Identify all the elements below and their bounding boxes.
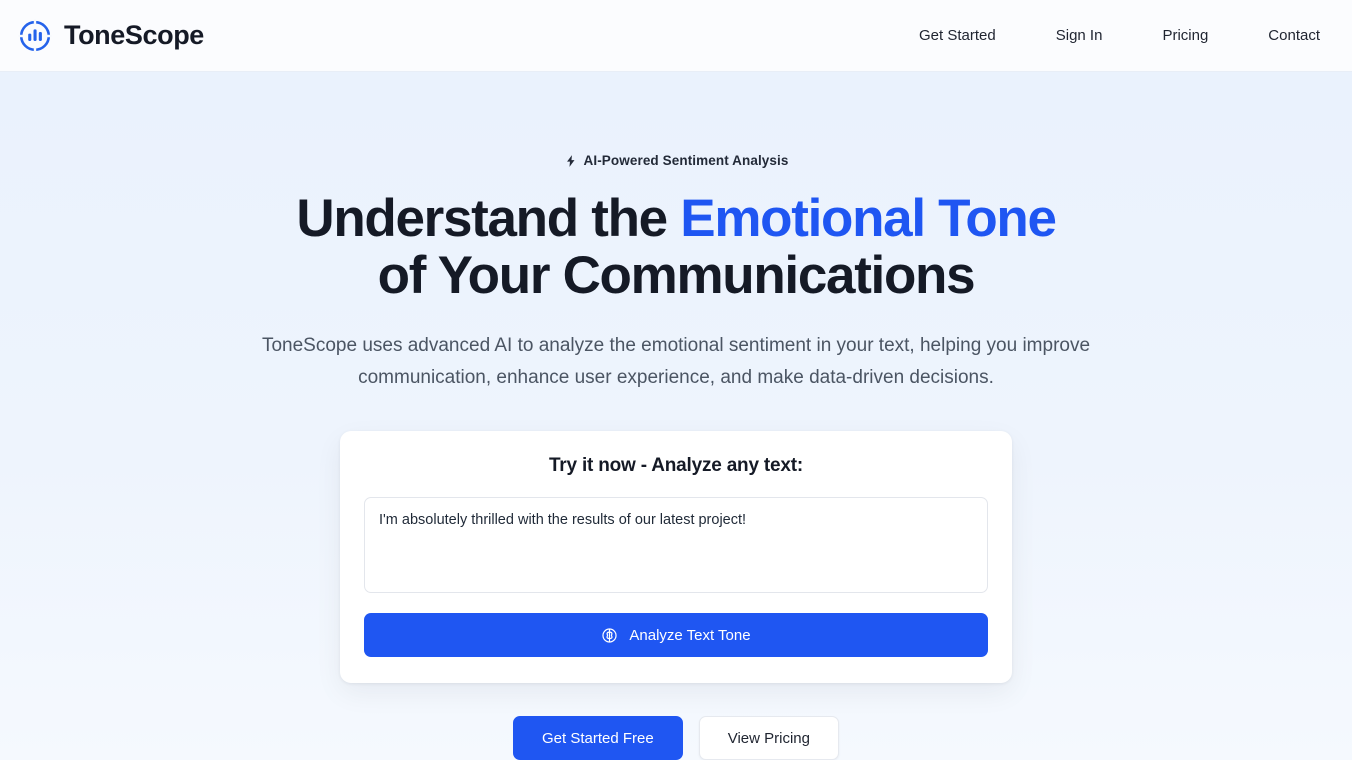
headline-accent: Emotional Tone <box>680 189 1055 248</box>
site-header: ToneScope Get Started Sign In Pricing Co… <box>0 0 1352 72</box>
brain-icon <box>601 627 618 644</box>
analyze-text-input[interactable] <box>364 497 988 593</box>
page-title: Understand the Emotional Toneof Your Com… <box>296 190 1055 304</box>
nav-link-get-started[interactable]: Get Started <box>889 20 1026 51</box>
tonescope-logo-icon <box>18 19 52 53</box>
nav-link-contact[interactable]: Contact <box>1238 20 1320 51</box>
headline-part-1: Understand the <box>296 189 680 248</box>
headline-part-2: of Your Communications <box>378 246 975 305</box>
analyze-card: Try it now - Analyze any text: Analyze T… <box>340 431 1012 683</box>
hero-eyebrow-text: AI-Powered Sentiment Analysis <box>584 154 789 168</box>
view-pricing-button[interactable]: View Pricing <box>699 716 839 760</box>
nav-link-pricing[interactable]: Pricing <box>1132 20 1238 51</box>
brand-name: ToneScope <box>64 22 204 49</box>
zap-icon <box>564 154 578 168</box>
brand-logo[interactable]: ToneScope <box>16 19 204 53</box>
hero-section: AI-Powered Sentiment Analysis Understand… <box>0 72 1352 760</box>
analyze-card-title: Try it now - Analyze any text: <box>364 455 988 477</box>
hero-eyebrow-badge: AI-Powered Sentiment Analysis <box>564 154 789 168</box>
analyze-button-label: Analyze Text Tone <box>629 627 750 644</box>
main-nav: Get Started Sign In Pricing Contact <box>889 20 1320 51</box>
hero-subheading: ToneScope uses advanced AI to analyze th… <box>226 330 1126 395</box>
nav-link-sign-in[interactable]: Sign In <box>1026 20 1133 51</box>
analyze-text-tone-button[interactable]: Analyze Text Tone <box>364 613 988 657</box>
get-started-free-button[interactable]: Get Started Free <box>513 716 683 760</box>
cta-row: Get Started Free View Pricing <box>513 716 839 760</box>
